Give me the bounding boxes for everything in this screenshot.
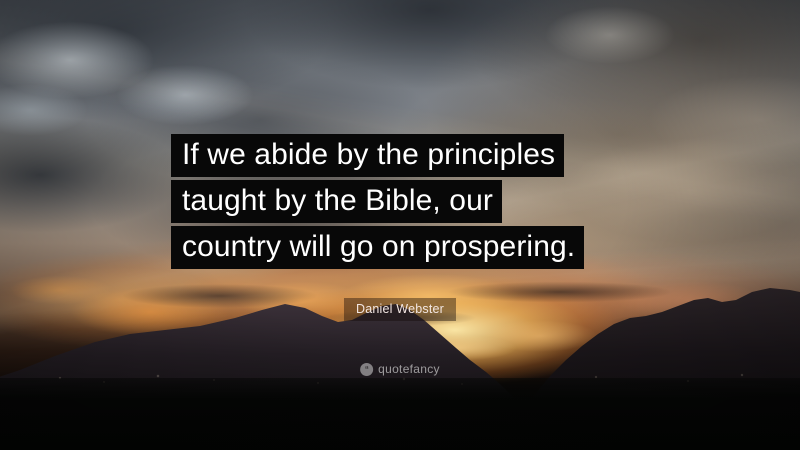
quote-text-block: If we abide by the principles taught by … [0, 134, 800, 269]
quote-author: Daniel Webster [344, 298, 456, 321]
watermark: “ quotefancy [360, 363, 440, 376]
quote-poster: If we abide by the principles taught by … [0, 0, 800, 450]
watermark-brand: quotefancy [378, 363, 440, 376]
quote-badge-icon: “ [360, 363, 373, 376]
dark-foreground-field [0, 378, 800, 450]
quote-line-1: If we abide by the principles [171, 134, 564, 177]
quote-line-3: country will go on prospering. [171, 226, 584, 269]
quote-line-2: taught by the Bible, our [171, 180, 502, 223]
